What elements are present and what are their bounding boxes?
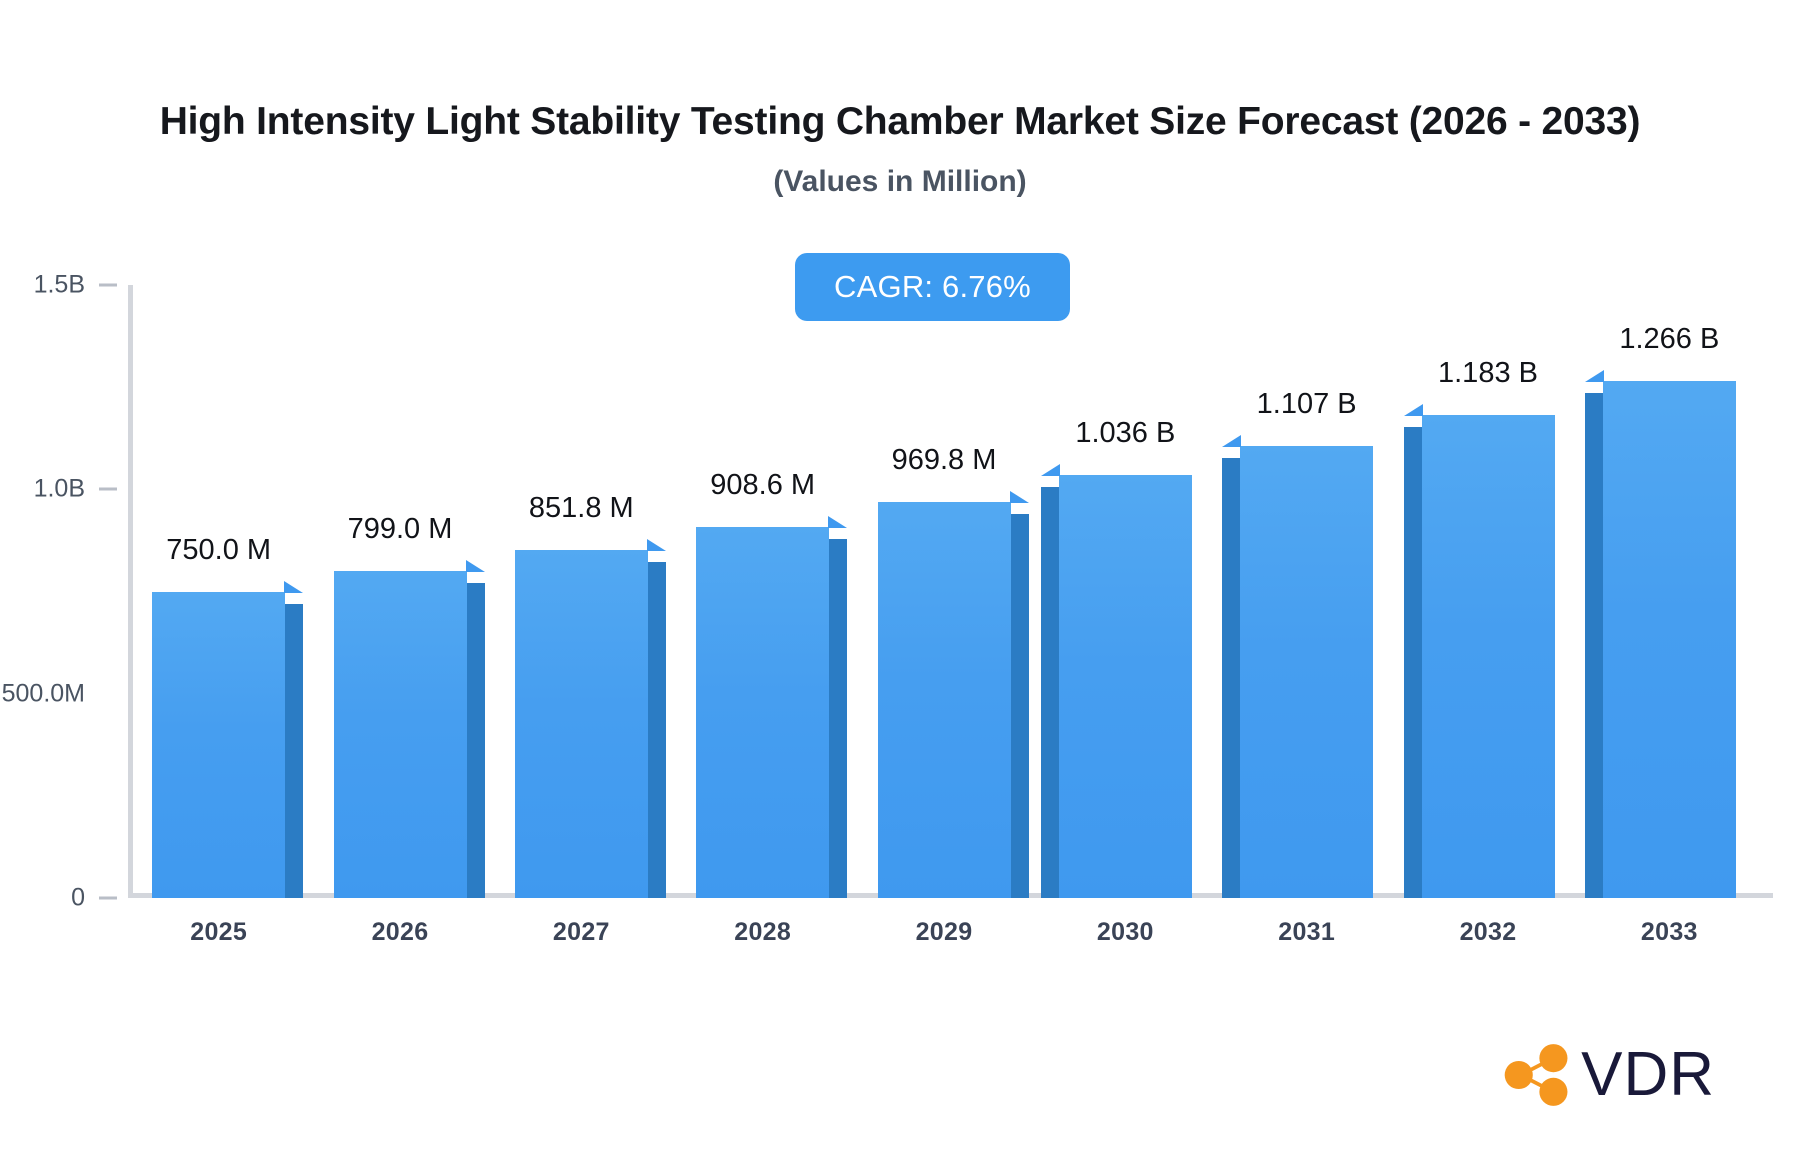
bar-front-face: [1059, 475, 1192, 898]
y-tick-dash: [99, 284, 117, 287]
bar-side-face: [646, 562, 666, 898]
bar-top-face: [1010, 491, 1029, 503]
x-tick-label-2033: 2033: [1569, 918, 1769, 947]
chart-subtitle: (Values in Million): [0, 165, 1800, 199]
bar-2025: [152, 592, 285, 899]
bar-value-label: 1.183 B: [1358, 357, 1618, 390]
bar-side-face: [1404, 427, 1424, 898]
bar-side-face: [1009, 514, 1029, 898]
bar-front-face: [515, 550, 648, 898]
bar-value-label: 1.107 B: [1177, 388, 1437, 421]
bar-side-face: [283, 604, 303, 899]
share-network-icon: [1500, 1042, 1573, 1108]
y-tick-text: 500.0M: [2, 679, 85, 708]
bar-side-face: [827, 539, 847, 898]
logo-text: VDR: [1581, 1044, 1715, 1106]
bar-2027: [515, 550, 648, 898]
bar-front-face: [1240, 446, 1373, 898]
bar-top-face: [284, 581, 303, 593]
x-tick-label-2028: 2028: [663, 918, 863, 947]
y-tick-dash: [99, 897, 117, 900]
bar-front-face: [1603, 381, 1736, 898]
bar-top-face: [466, 560, 485, 572]
x-tick-label-2025: 2025: [119, 918, 319, 947]
bar-front-face: [1422, 415, 1555, 898]
x-tick-label-2031: 2031: [1207, 918, 1407, 947]
x-tick-label-2029: 2029: [844, 918, 1044, 947]
bar-side-face: [1222, 458, 1242, 898]
bar-2030: [1059, 475, 1192, 898]
x-tick-label-2027: 2027: [481, 918, 681, 947]
bar-side-face: [465, 583, 485, 898]
bar-2033: [1603, 381, 1736, 898]
y-tick-dash: [99, 488, 117, 491]
bar-2031: [1240, 446, 1373, 898]
bar-front-face: [878, 502, 1011, 898]
x-tick-label-2032: 2032: [1388, 918, 1588, 947]
x-tick-label-2026: 2026: [300, 918, 500, 947]
bar-top-face: [828, 516, 847, 528]
bar-side-face: [1585, 393, 1605, 898]
x-tick-label-2030: 2030: [1025, 918, 1225, 947]
bar-front-face: [334, 571, 467, 898]
bar-front-face: [152, 592, 285, 899]
bar-side-face: [1041, 487, 1061, 898]
y-tick-text: 0: [71, 884, 85, 913]
y-tick-text: 1.5B: [34, 271, 85, 300]
chart-title: High Intensity Light Stability Testing C…: [0, 100, 1800, 144]
bar-value-label: 1.036 B: [995, 417, 1255, 450]
chart-canvas: High Intensity Light Stability Testing C…: [0, 0, 1800, 1156]
bar-value-label: 1.266 B: [1539, 323, 1799, 356]
bar-2029: [878, 502, 1011, 898]
bar-2028: [696, 527, 829, 898]
vdr-logo: VDR: [1500, 1040, 1715, 1110]
bar-2026: [334, 571, 467, 898]
y-tick-text: 1.0B: [34, 475, 85, 504]
bar-2032: [1422, 415, 1555, 898]
bar-top-face: [647, 539, 666, 551]
bar-front-face: [696, 527, 829, 898]
